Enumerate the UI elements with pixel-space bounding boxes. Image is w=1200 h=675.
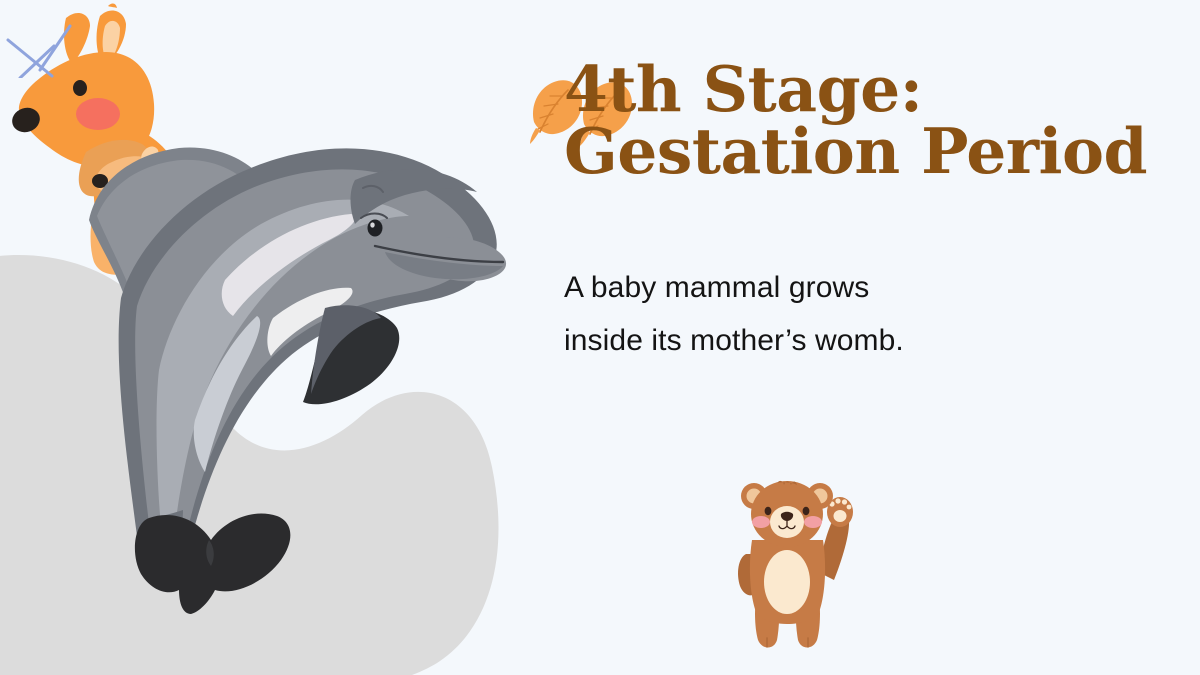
bear-paw-toe-3 (842, 499, 847, 504)
bear-paw-pad (834, 510, 847, 522)
dolphin-tail-fluke (135, 513, 290, 614)
bear-paw-toe-4 (847, 505, 852, 510)
text-column: 4th Stage: Gestation Period A baby mamma… (528, 58, 1168, 367)
bear-right-cheek (804, 516, 822, 528)
page-title: 4th Stage: Gestation Period (528, 58, 1148, 183)
bear-illustration (730, 462, 860, 652)
sparkle-line-3 (40, 26, 70, 70)
bear-left-eye (765, 507, 772, 515)
slide-canvas: 4th Stage: Gestation Period A baby mamma… (0, 0, 1200, 675)
title-block: 4th Stage: Gestation Period (528, 58, 1148, 234)
bear-belly (764, 550, 810, 614)
sparkle-decoration (0, 0, 72, 83)
bear-paw-toe-2 (835, 498, 840, 503)
dolphin-eye (368, 220, 383, 237)
kangaroo-ear-tuft (108, 4, 117, 8)
dolphin-eye-highlight (370, 222, 374, 227)
kangaroo-eye (73, 80, 87, 96)
body-text: A baby mammal grows inside its mother’s … (528, 262, 1168, 367)
dolphin-illustration (75, 120, 525, 620)
bear-left-cheek (752, 516, 770, 528)
bear-right-eye (803, 507, 810, 515)
